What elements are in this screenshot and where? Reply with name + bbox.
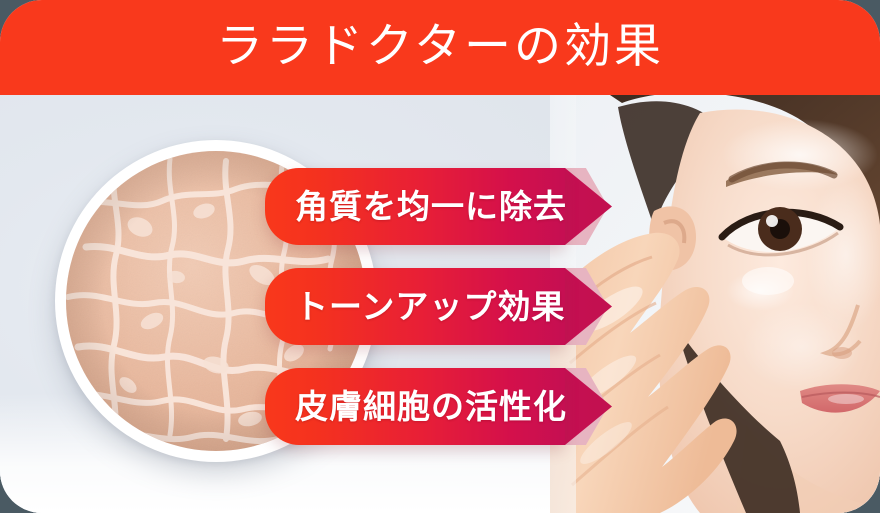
effect-badge-3[interactable]: 皮膚細胞の活性化 [265, 368, 665, 445]
effect-badge-2[interactable]: トーンアップ効果 [265, 268, 665, 345]
banner-header: ララドクターの効果 [0, 0, 880, 95]
effect-badge-label: トーンアップ効果 [295, 290, 565, 323]
effect-badge-label: 皮膚細胞の活性化 [295, 390, 567, 423]
effect-badge-body: トーンアップ効果 [265, 268, 565, 345]
effect-badge-body: 角質を均一に除去 [265, 168, 565, 245]
effect-badge-list: 角質を均一に除去 トーンアップ効果 皮膚細胞の活性化 [265, 168, 665, 445]
effect-badge-label: 角質を均一に除去 [295, 190, 567, 223]
page-title: ララドクターの効果 [216, 23, 664, 70]
effect-badge-body: 皮膚細胞の活性化 [265, 368, 565, 445]
effect-banner: ララドクターの効果 [0, 0, 880, 513]
banner-body: 角質を均一に除去 トーンアップ効果 皮膚細胞の活性化 [0, 95, 880, 513]
effect-badge-1[interactable]: 角質を均一に除去 [265, 168, 665, 245]
